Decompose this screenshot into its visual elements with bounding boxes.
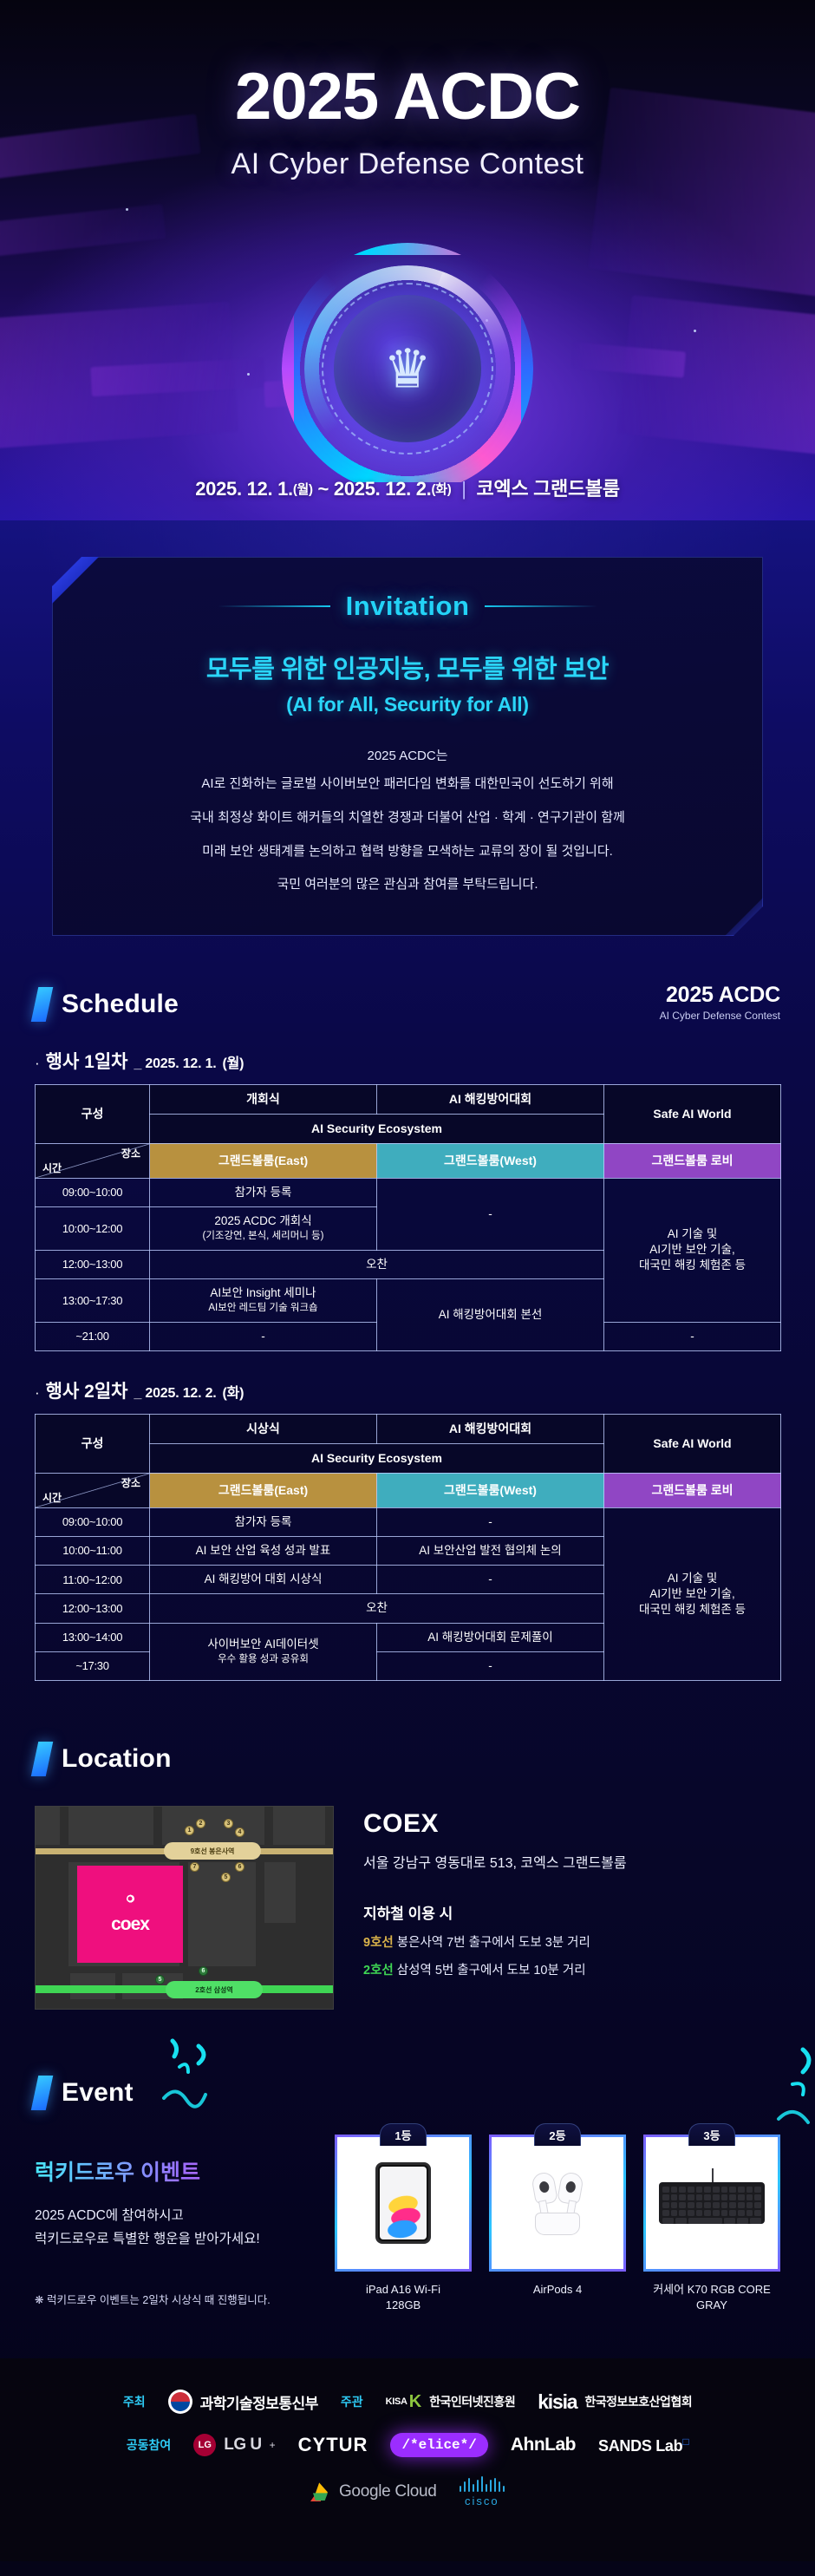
cell-track-a: 2025 ACDC 개회식 (기조강연, 본식, 세리머니 등) <box>150 1207 377 1251</box>
prize-image-card <box>643 2135 780 2272</box>
event-headline: 럭키드로우 이벤트 <box>35 2155 312 2187</box>
partner-name-cytur: CYTUR <box>298 2434 368 2456</box>
map-exit-marker: 7 <box>190 1862 199 1872</box>
cell-lunch: 오찬 <box>150 1594 604 1623</box>
date-end-day: (화) <box>432 482 452 497</box>
venue-map[interactable]: 9호선 봉은사역 1 2 3 4 7 6 5 5 6 coex 2호선 삼성역 <box>35 1806 334 2010</box>
event-date-venue: 2025. 12. 1.(월) ~ 2025. 12. 2.(화) | 코엑스 … <box>0 474 815 501</box>
cell-time: 13:00~14:00 <box>36 1623 150 1651</box>
shield-network-icon: ♛ <box>282 243 533 494</box>
cell-track-b: AI 보안산업 발전 협의체 논의 <box>377 1536 604 1565</box>
invitation-paragraph: 국내 최정상 화이트 해커들의 치열한 경쟁과 더불어 산업 · 학계 · 연구… <box>100 805 715 832</box>
organizer1-name: 한국인터넷진흥원 <box>429 2393 515 2410</box>
day1-name: 행사 1일차 <box>46 1048 128 1074</box>
kisa-k-glyph: K <box>409 2393 421 2410</box>
transit-line-item: 9호선 봉은사역 7번 출구에서 도보 3분 거리 <box>363 1932 627 1951</box>
cell-track-a: AI 해킹방어 대회 시상식 <box>150 1566 377 1594</box>
cell-time: ~17:30 <box>36 1651 150 1680</box>
table-header-row: 구성 개회식 AI 해킹방어대회 Safe AI World <box>36 1085 781 1115</box>
logo-kisia: kisia 한국정보보호산업협회 <box>538 2390 692 2414</box>
th-venue-lobby: 그랜드볼룸 로비 <box>604 1143 781 1178</box>
cell-time: ~21:00 <box>36 1322 150 1350</box>
cell-main-text: AI보안 Insight 세미나 <box>210 1286 316 1299</box>
decor-line-left <box>218 605 330 607</box>
prize-rank-badge: 3등 <box>688 2123 735 2146</box>
th-track-a: 개회식 <box>150 1085 377 1115</box>
cell-track-b: AI 해킹방어대회 본선 <box>377 1279 604 1351</box>
th-track-a: 시상식 <box>150 1414 377 1443</box>
invitation-paragraph: AI로 진화하는 글로벌 사이버보안 패러다임 변화를 대한민국이 선도하기 위… <box>100 771 715 798</box>
cell-track-b: - <box>377 1651 604 1680</box>
event-note: ❋ 럭키드로우 이벤트는 2일차 시상식 때 진행됩니다. <box>35 2291 312 2307</box>
cisco-bars-icon <box>460 2476 505 2492</box>
acdc-poster: 2025 ACDC AI Cyber Defense Contest ♛ 202… <box>0 0 815 2576</box>
cell-track-a: 참가자 등록 <box>150 1178 377 1206</box>
subway-line-2-tag: 2호선 <box>363 1964 394 1978</box>
map-exit-marker: 5 <box>155 1975 165 1984</box>
prize-rank-badge: 1등 <box>380 2123 427 2146</box>
venue-name: 코엑스 그랜드볼룸 <box>476 478 619 500</box>
th-venue-west: 그랜드볼룸(West) <box>377 1143 604 1178</box>
event-description: 2025 ACDC에 참여하시고 럭키드로우로 특별한 행운을 받아가세요! <box>35 2204 312 2251</box>
kisia-wordmark: kisia <box>538 2390 577 2414</box>
section-title: Event <box>62 2078 134 2108</box>
ipad-icon <box>375 2162 431 2244</box>
date-start: 2025. 12. 1. <box>195 478 293 500</box>
coex-label: coex <box>111 1914 149 1935</box>
keyboard-icon <box>659 2182 765 2224</box>
map-exit-marker: 1 <box>185 1826 194 1835</box>
cell-time: 12:00~13:00 <box>36 1250 150 1278</box>
cell-track-c: AI 기술 및 AI기반 보안 기술, 대국민 해킹 체험존 등 <box>604 1178 781 1322</box>
venue-address: 서울 강남구 영동대로 513, 코엑스 그랜드볼룸 <box>363 1851 627 1872</box>
cell-lunch: 오찬 <box>150 1250 604 1278</box>
host-label: 주최 <box>123 2393 146 2410</box>
kisa-icon: KISA K <box>386 2393 422 2410</box>
section-bar-icon <box>31 987 54 1022</box>
airpods-icon <box>530 2171 585 2235</box>
cell-track-a: 참가자 등록 <box>150 1507 377 1536</box>
prize-image-card <box>489 2135 626 2272</box>
station-label-9: 9호선 봉은사역 <box>164 1842 261 1860</box>
corner-accent-icon <box>724 897 764 937</box>
organizer2-name: 한국정보보호산업협회 <box>584 2393 692 2410</box>
invitation-section: Invitation 모두를 위한 인공지능, 모두를 위한 보안 (AI fo… <box>0 520 815 936</box>
date-venue-divider: | <box>456 478 471 500</box>
footer-row-partners-1: 공동참여 LG LG U+ CYTUR /*elice*/ AhnLab SAN… <box>0 2433 815 2457</box>
subway-line-2-text: 삼성역 5번 출구에서 도보 10분 거리 <box>394 1964 586 1978</box>
prize-item-3: 3등 커세어 K70 RGB CORE GRAY <box>643 2135 780 2313</box>
schedule-header: Schedule 2025 ACDC AI Cyber Defense Cont… <box>35 983 780 1022</box>
brand-subtitle: AI Cyber Defense Contest <box>660 1010 780 1022</box>
event-desc-line1: 2025 ACDC에 참여하시고 <box>35 2208 184 2223</box>
th-track-c: Safe AI World <box>604 1085 781 1144</box>
prize-image-card <box>335 2135 472 2272</box>
cell-main-text: 2025 ACDC 개회식 <box>214 1214 311 1227</box>
day2-label: · 행사 2일차 _ 2025. 12. 2.(화) <box>35 1377 780 1403</box>
cell-sub-text: (기조강연, 본식, 세리머니 등) <box>153 1230 373 1244</box>
cell-track-c: - <box>604 1322 781 1350</box>
cell-main-text: 사이버보안 AI데이터셋 <box>207 1638 318 1651</box>
cell-sub-text: 우수 활용 성과 공유회 <box>153 1653 373 1667</box>
th-ecosystem: AI Security Ecosystem <box>150 1114 604 1143</box>
location-info: COEX 서울 강남구 영동대로 513, 코엑스 그랜드볼룸 지하철 이용 시… <box>363 1806 627 1978</box>
brand-mark: 2025 ACDC AI Cyber Defense Contest <box>660 983 780 1022</box>
th-venue-west: 그랜드볼룸(West) <box>377 1473 604 1507</box>
invitation-headline-en: (AI for All, Security for All) <box>100 693 715 716</box>
cell-track-a: AI 보안 산업 육성 성과 발표 <box>150 1536 377 1565</box>
cell-time: 13:00~17:30 <box>36 1279 150 1323</box>
page-subtitle: AI Cyber Defense Contest <box>0 147 815 181</box>
event-section: Event 럭키드로우 이벤트 2025 ACDC에 참여하시고 럭키드로우로 … <box>0 2010 815 2358</box>
cell-sub-text: AI보안 레드팀 기술 워크숍 <box>153 1302 373 1316</box>
cell-time: 10:00~12:00 <box>36 1207 150 1251</box>
map-exit-marker: 3 <box>224 1819 233 1828</box>
logo-mssit: 과학기술정보통신부 <box>168 2390 318 2414</box>
logo-cisco: cisco <box>460 2476 505 2507</box>
prize-name: 커세어 K70 RGB CORE GRAY <box>643 2282 780 2313</box>
day2-weekday: (화) <box>223 1381 244 1402</box>
invitation-paragraph: 미래 보안 생태계를 논의하고 협력 방향을 모색하는 교류의 장이 될 것입니… <box>100 839 715 866</box>
hero-star <box>247 373 250 376</box>
page-title: 2025 ACDC <box>0 59 815 134</box>
taegeuk-icon <box>168 2390 192 2414</box>
cell-track-a: AI보안 Insight 세미나 AI보안 레드팀 기술 워크숍 <box>150 1279 377 1323</box>
prize-item-2: 2등 AirPods 4 <box>489 2135 626 2313</box>
venue-header-row: 장소 시간 그랜드볼룸(East) 그랜드볼룸(West) 그랜드볼룸 로비 <box>36 1473 781 1507</box>
cell-time: 11:00~12:00 <box>36 1566 150 1594</box>
th-time-label: 시간 <box>42 1161 62 1175</box>
hero-decor-shape <box>0 204 166 261</box>
hero-banner: 2025 ACDC AI Cyber Defense Contest ♛ 202… <box>0 0 815 520</box>
th-config: 구성 <box>36 1414 150 1473</box>
google-cloud-icon <box>310 2482 331 2501</box>
sandslab-word: SANDS Lab <box>598 2437 682 2455</box>
invitation-headline-ko: 모두를 위한 인공지능, 모두를 위한 보안 <box>100 651 715 688</box>
cell-time: 12:00~13:00 <box>36 1594 150 1623</box>
table-row: 09:00~10:00 참가자 등록 - AI 기술 및 AI기반 보안 기술,… <box>36 1178 781 1206</box>
th-venue-lobby: 그랜드볼룸 로비 <box>604 1473 781 1507</box>
date-range-tilde: ~ <box>318 478 329 500</box>
th-time-place: 장소 시간 <box>36 1143 150 1178</box>
partner-name-ahnlab: AhnLab <box>511 2435 576 2455</box>
logo-google-cloud: Google Cloud <box>310 2482 437 2501</box>
th-time-place: 장소 시간 <box>36 1473 150 1507</box>
section-bar-icon <box>31 2076 54 2110</box>
cell-time: 10:00~11:00 <box>36 1536 150 1565</box>
venue-title: COEX <box>363 1809 627 1839</box>
th-config: 구성 <box>36 1085 150 1144</box>
cell-track-c: AI 기술 및 AI기반 보안 기술, 대국민 해킹 체험존 등 <box>604 1507 781 1680</box>
cell-track-b: - <box>377 1507 604 1536</box>
partner-name-google-cloud: Google Cloud <box>339 2482 437 2501</box>
day2-name: 행사 2일차 <box>46 1377 128 1403</box>
th-place-label: 장소 <box>121 1476 140 1490</box>
invitation-title-row: Invitation <box>100 591 715 622</box>
invitation-card: Invitation 모두를 위한 인공지능, 모두를 위한 보안 (AI fo… <box>52 557 763 936</box>
hero-decor-shape <box>617 295 815 459</box>
schedule-section: Schedule 2025 ACDC AI Cyber Defense Cont… <box>0 936 815 1681</box>
sponsor-footer: 주최 과학기술정보통신부 주관 KISA K 한국인터넷진흥원 kisia 한국… <box>0 2358 815 2561</box>
section-title: Schedule <box>62 990 179 1019</box>
transit-line-item: 2호선 삼성역 5번 출구에서 도보 10분 거리 <box>363 1960 627 1978</box>
event-info: 럭키드로우 이벤트 2025 ACDC에 참여하시고 럭키드로우로 특별한 행운… <box>35 2135 312 2313</box>
day2-schedule-table: 구성 시상식 AI 해킹방어대회 Safe AI World AI Securi… <box>35 1414 781 1681</box>
logo-lg-uplus: LG LG U+ <box>193 2434 275 2456</box>
invitation-paragraph: 국민 여러분의 많은 관심과 참여를 부탁드립니다. <box>100 872 715 899</box>
prize-list: 1등 iPad A16 Wi-Fi 128GB <box>335 2135 780 2313</box>
prize-item-1: 1등 iPad A16 Wi-Fi 128GB <box>335 2135 472 2313</box>
subway-line-9-text: 봉은사역 7번 출구에서 도보 3분 거리 <box>394 1936 590 1950</box>
day2-bullet: · <box>35 1385 40 1400</box>
partners-label: 공동참여 <box>127 2436 172 2454</box>
prize-name: AirPods 4 <box>489 2282 626 2298</box>
cell-time: 09:00~10:00 <box>36 1178 150 1206</box>
map-exit-marker: 6 <box>235 1862 244 1872</box>
date-end: 2025. 12. 2. <box>334 478 432 500</box>
day1-date: _ 2025. 12. 1. <box>134 1056 216 1072</box>
th-track-b: AI 해킹방어대회 <box>377 1085 604 1115</box>
decor-line-right <box>485 605 597 607</box>
partner-name-cisco: cisco <box>465 2494 499 2507</box>
th-ecosystem: AI Security Ecosystem <box>150 1443 604 1473</box>
lg-circle-icon: LG <box>193 2434 216 2456</box>
th-place-label: 장소 <box>121 1147 140 1161</box>
cell-time: 09:00~10:00 <box>36 1507 150 1536</box>
section-bar-icon <box>31 1742 54 1776</box>
th-track-b: AI 해킹방어대회 <box>377 1414 604 1443</box>
hero-star <box>694 330 696 332</box>
th-time-label: 시간 <box>42 1491 62 1505</box>
cell-track-b: - <box>377 1566 604 1594</box>
map-exit-marker: 5 <box>221 1873 231 1882</box>
lg-plus-glyph: + <box>270 2439 276 2451</box>
day1-schedule-table: 구성 개회식 AI 해킹방어대회 Safe AI World AI Securi… <box>35 1084 781 1351</box>
table-row: 09:00~10:00 참가자 등록 - AI 기술 및 AI기반 보안 기술,… <box>36 1507 781 1536</box>
host-name: 과학기술정보통신부 <box>200 2391 318 2413</box>
map-exit-marker: 2 <box>196 1819 205 1828</box>
transit-title: 지하철 이용 시 <box>363 1901 627 1923</box>
location-section: Location 9호선 봉은사역 1 2 3 4 7 6 <box>0 1681 815 2010</box>
station-label-2: 2호선 삼성역 <box>166 1981 263 1998</box>
date-start-day: (월) <box>293 482 313 497</box>
section-title: Location <box>62 1744 172 1774</box>
day2-date: _ 2025. 12. 2. <box>134 1386 216 1402</box>
day1-label: · 행사 1일차 _ 2025. 12. 1.(월) <box>35 1048 780 1074</box>
brand-title: 2025 ACDC <box>660 983 780 1008</box>
footer-row-hosts: 주최 과학기술정보통신부 주관 KISA K 한국인터넷진흥원 kisia 한국… <box>0 2390 815 2414</box>
cell-track-b: AI 해킹방어대회 문제풀이 <box>377 1623 604 1651</box>
prize-rank-badge: 2등 <box>534 2123 581 2146</box>
hero-star <box>126 208 128 211</box>
sandslab-mark-icon: □ <box>682 2435 688 2448</box>
poster-body: Invitation 모두를 위한 인공지능, 모두를 위한 보안 (AI fo… <box>0 520 815 2561</box>
cell-track-b: - <box>377 1178 604 1250</box>
partner-name-lg: LG U <box>224 2435 261 2455</box>
th-track-c: Safe AI World <box>604 1414 781 1473</box>
partner-name-sandslab: SANDS Lab□ <box>598 2435 688 2455</box>
venue-header-row: 장소 시간 그랜드볼룸(East) 그랜드볼룸(West) 그랜드볼룸 로비 <box>36 1143 781 1178</box>
event-desc-line2: 럭키드로우로 특별한 행운을 받아가세요! <box>35 2232 260 2246</box>
kisa-mark-text: KISA <box>386 2396 407 2407</box>
invitation-label: Invitation <box>346 591 470 622</box>
logo-kisa: KISA K 한국인터넷진흥원 <box>386 2393 516 2410</box>
corner-accent-icon <box>51 556 100 605</box>
organizer-label: 주관 <box>341 2393 363 2410</box>
map-pin-icon <box>125 1893 136 1908</box>
day1-bullet: · <box>35 1056 40 1070</box>
day1-weekday: (월) <box>223 1051 244 1072</box>
map-exit-marker: 4 <box>235 1827 244 1837</box>
footer-row-partners-2: Google Cloud cisco <box>0 2476 815 2507</box>
table-header-row: 구성 시상식 AI 해킹방어대회 Safe AI World <box>36 1414 781 1443</box>
th-venue-east: 그랜드볼룸(East) <box>150 1143 377 1178</box>
coex-marker: coex <box>77 1866 183 1963</box>
th-venue-east: 그랜드볼룸(East) <box>150 1473 377 1507</box>
invitation-lead: 2025 ACDC는 <box>100 746 715 764</box>
prize-name: iPad A16 Wi-Fi 128GB <box>335 2282 472 2313</box>
partner-name-elice: /*elice*/ <box>390 2433 487 2457</box>
map-exit-marker: 6 <box>199 1966 208 1976</box>
cell-track-a: - <box>150 1322 377 1350</box>
cell-track-a: 사이버보안 AI데이터셋 우수 활용 성과 공유회 <box>150 1623 377 1680</box>
subway-line-9-tag: 9호선 <box>363 1936 394 1950</box>
